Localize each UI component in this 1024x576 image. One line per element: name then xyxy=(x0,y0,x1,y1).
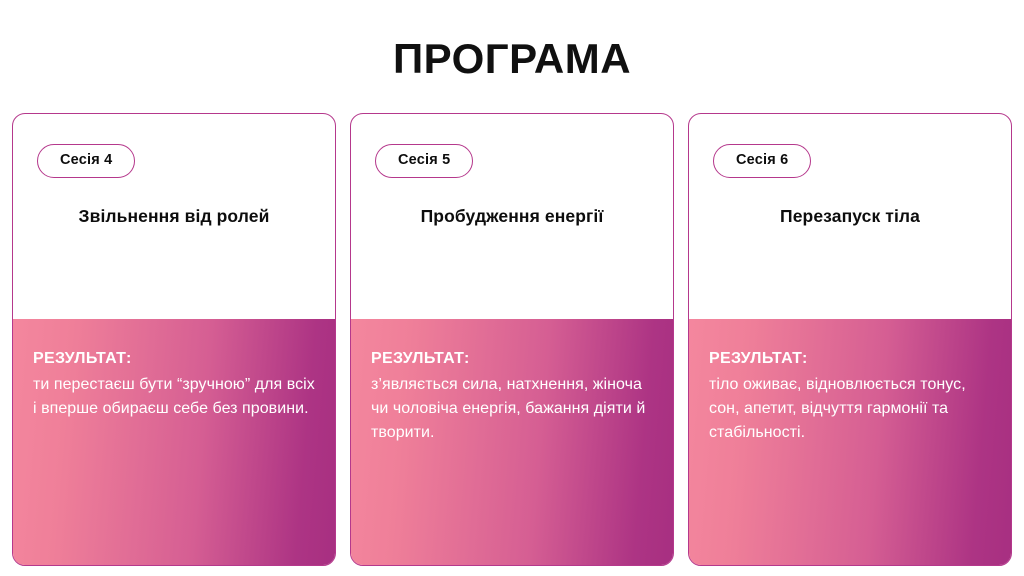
session-title: Перезапуск тіла xyxy=(713,206,987,228)
result-block: РЕЗУЛЬТАТ: тіло оживає, відновлюється то… xyxy=(688,319,1012,566)
slide-root: ПРОГРАМА Сесія 4 Звільнення від ролей РЕ… xyxy=(0,0,1024,576)
result-block: РЕЗУЛЬТАТ: ти перестаєш бути “зручною” д… xyxy=(12,319,336,566)
card-header-area: Сесія 5 Пробудження енергії xyxy=(351,114,673,321)
result-text: з’являється сила, натхнення, жіноча чи ч… xyxy=(371,373,653,446)
result-text: ти перестаєш бути “зручною” для всіх і в… xyxy=(33,373,315,422)
result-label: РЕЗУЛЬТАТ: xyxy=(371,349,653,370)
card-header-area: Сесія 4 Звільнення від ролей xyxy=(13,114,335,321)
session-title: Звільнення від ролей xyxy=(37,206,311,228)
result-text: тіло оживає, відновлюється тонус, сон, а… xyxy=(709,373,991,446)
session-card-list: Сесія 4 Звільнення від ролей РЕЗУЛЬТАТ: … xyxy=(12,113,1012,566)
session-badge: Сесія 4 xyxy=(37,144,135,178)
session-badge: Сесія 6 xyxy=(713,144,811,178)
session-title: Пробудження енергії xyxy=(375,206,649,228)
session-card[interactable]: Сесія 4 Звільнення від ролей РЕЗУЛЬТАТ: … xyxy=(12,113,336,566)
session-card[interactable]: Сесія 5 Пробудження енергії РЕЗУЛЬТАТ: з… xyxy=(350,113,674,566)
session-card[interactable]: Сесія 6 Перезапуск тіла РЕЗУЛЬТАТ: тіло … xyxy=(688,113,1012,566)
result-block: РЕЗУЛЬТАТ: з’являється сила, натхнення, … xyxy=(350,319,674,566)
result-label: РЕЗУЛЬТАТ: xyxy=(709,349,991,370)
session-badge: Сесія 5 xyxy=(375,144,473,178)
page-title: ПРОГРАМА xyxy=(0,38,1024,80)
card-header-area: Сесія 6 Перезапуск тіла xyxy=(689,114,1011,321)
result-label: РЕЗУЛЬТАТ: xyxy=(33,349,315,370)
